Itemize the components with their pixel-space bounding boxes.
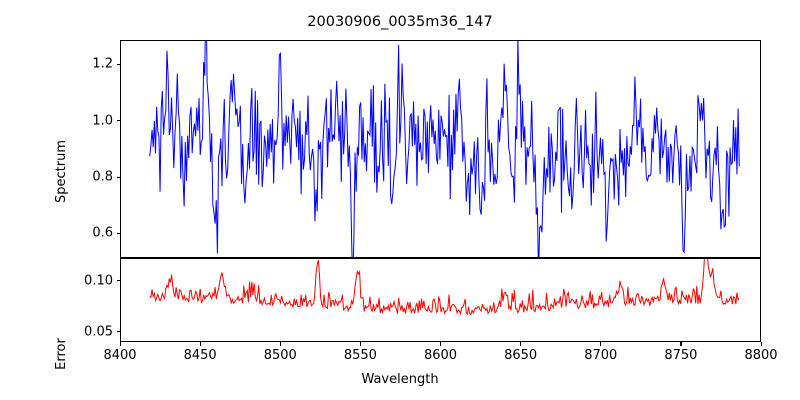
spectrum-ytick-mark-2 bbox=[117, 120, 121, 121]
xtick-mark-2 bbox=[280, 342, 281, 346]
spectrum-ytick-mark-3 bbox=[117, 64, 121, 65]
xtick-mark-6 bbox=[600, 342, 601, 346]
xtick-label-7: 8750 bbox=[664, 348, 697, 363]
xtick-mark-7 bbox=[680, 342, 681, 346]
x-axis-label: Wavelength bbox=[0, 372, 800, 387]
error-ytick-mark-1 bbox=[117, 280, 121, 281]
xtick-label-8: 8800 bbox=[744, 348, 777, 363]
figure-title: 20030906_0035m36_147 bbox=[0, 14, 800, 30]
error-trace bbox=[150, 259, 739, 315]
xtick-mark-0 bbox=[120, 342, 121, 346]
xtick-label-3: 8550 bbox=[344, 348, 377, 363]
spectrum-ytick-label-2: 1.0 bbox=[60, 113, 113, 128]
spectrum-ytick-label-0: 0.6 bbox=[60, 226, 113, 241]
spectrum-ytick-mark-0 bbox=[117, 233, 121, 234]
error-ytick-label-1: 0.10 bbox=[60, 273, 113, 288]
error-axes bbox=[120, 258, 761, 342]
error-plot-line bbox=[121, 259, 760, 341]
xtick-label-0: 8400 bbox=[103, 348, 136, 363]
xtick-label-4: 8600 bbox=[424, 348, 457, 363]
error-ytick-mark-0 bbox=[117, 331, 121, 332]
xtick-mark-4 bbox=[440, 342, 441, 346]
xtick-label-5: 8650 bbox=[504, 348, 537, 363]
spectrum-axes bbox=[120, 40, 761, 258]
xtick-label-2: 8500 bbox=[264, 348, 297, 363]
spectrum-ytick-mark-1 bbox=[117, 177, 121, 178]
xtick-mark-3 bbox=[360, 342, 361, 346]
spectrum-ytick-label-3: 1.2 bbox=[60, 57, 113, 72]
xtick-mark-8 bbox=[761, 342, 762, 346]
xtick-label-6: 8700 bbox=[584, 348, 617, 363]
spectrum-plot-line bbox=[121, 41, 760, 257]
xtick-label-1: 8450 bbox=[184, 348, 217, 363]
xtick-mark-5 bbox=[520, 342, 521, 346]
error-y-axis-label: Error bbox=[54, 338, 69, 370]
xtick-mark-1 bbox=[200, 342, 201, 346]
spectrum-trace bbox=[150, 41, 739, 257]
figure-canvas: 20030906_0035m36_147 0.60.81.01.20.050.1… bbox=[0, 0, 800, 400]
